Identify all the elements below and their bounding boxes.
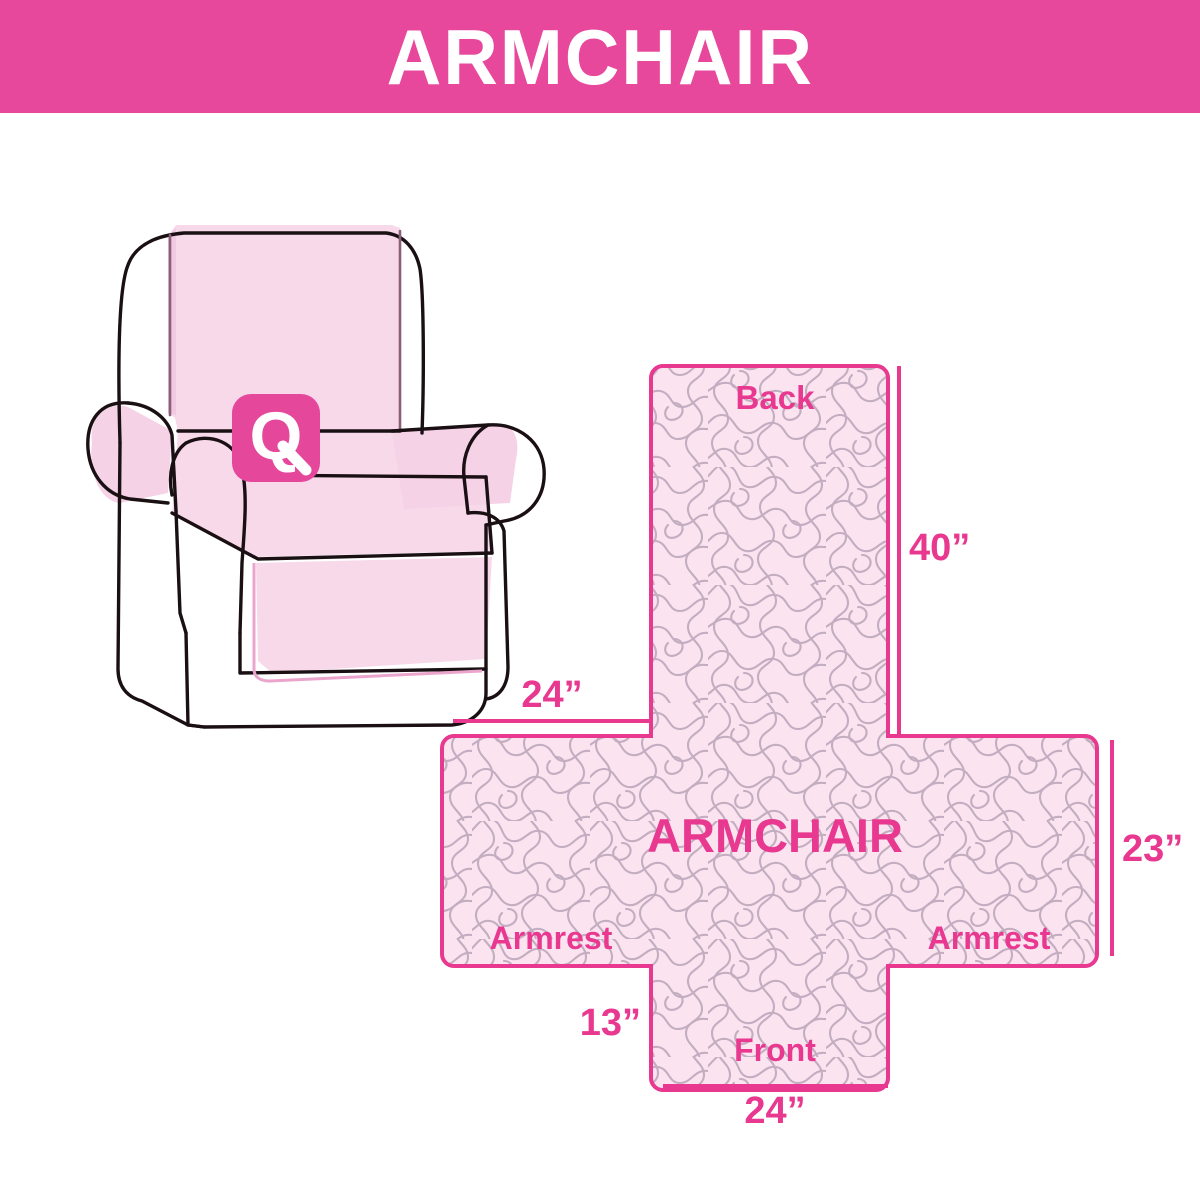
dimension-value-24-top: 24” xyxy=(521,674,582,716)
dimension-back-width: 24” xyxy=(453,674,651,721)
armchair-illustration: Q xyxy=(88,225,544,727)
panel-label-armrest-right: Armrest xyxy=(928,920,1051,956)
panel-label-center: ARMCHAIR xyxy=(647,809,903,862)
illustration-stage: Q Back ARMCHAIR Armrest Armrest Front 4 xyxy=(0,113,1200,1200)
page-title: ARMCHAIR xyxy=(386,18,813,96)
chair-left-arm-front xyxy=(176,511,186,633)
chair-front-panel xyxy=(256,557,492,673)
dimension-front-width: 24” xyxy=(663,1086,888,1132)
product-dimension-page: ARMCHAIR xyxy=(0,0,1200,1200)
cover-quilt-fill xyxy=(440,353,1180,1200)
dimension-value-23: 23” xyxy=(1122,828,1183,870)
dimension-seat-depth: 23” xyxy=(1112,740,1183,956)
chair-right-arm-pink xyxy=(392,425,517,509)
dimension-value-24-bottom: 24” xyxy=(744,1090,805,1132)
brand-logo-badge: Q xyxy=(232,394,320,482)
panel-label-armrest-left: Armrest xyxy=(490,920,613,956)
page-header-banner: ARMCHAIR xyxy=(0,0,1200,113)
dimension-front-drop: 13” xyxy=(580,966,651,1078)
chair-base-left-seam xyxy=(186,633,188,725)
cover-layout-diagram: Back ARMCHAIR Armrest Armrest Front 40” … xyxy=(440,353,1183,1200)
dimension-value-40: 40” xyxy=(909,527,970,569)
panel-label-back: Back xyxy=(736,379,816,416)
chair-left-arm-pink xyxy=(91,406,172,504)
dimension-back-height: 40” xyxy=(899,366,970,736)
panel-label-front: Front xyxy=(734,1032,816,1068)
dimension-value-13: 13” xyxy=(580,1002,641,1044)
